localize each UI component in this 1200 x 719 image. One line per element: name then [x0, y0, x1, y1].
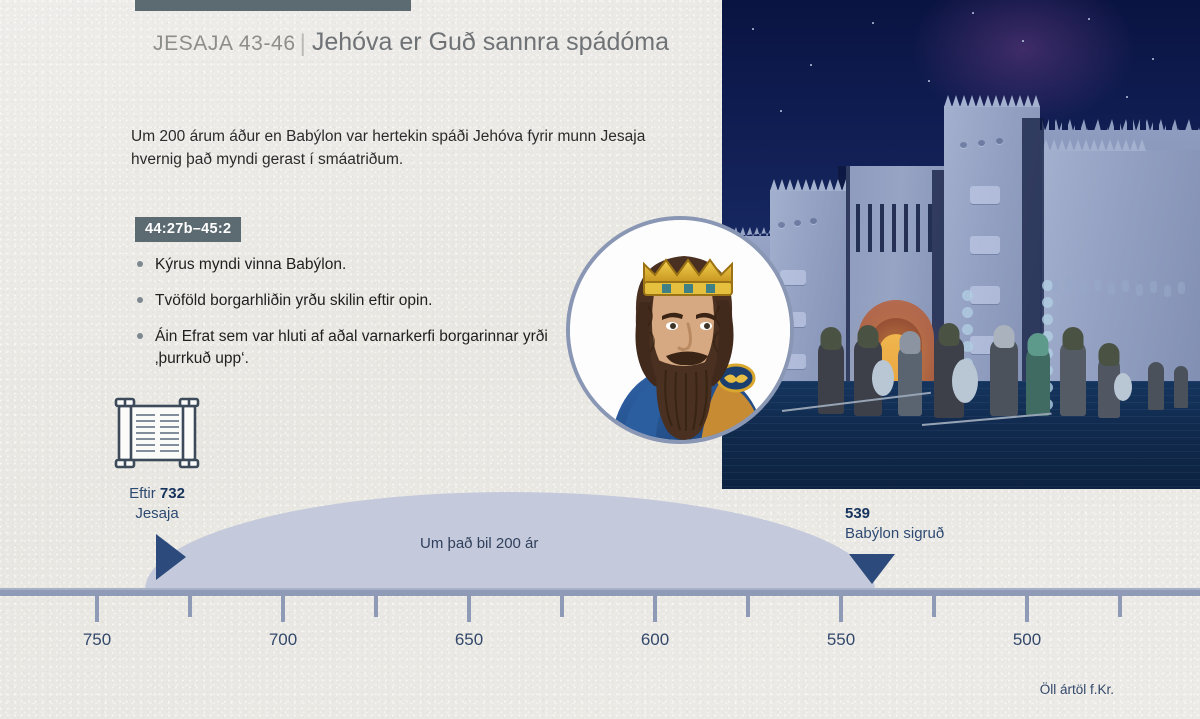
page-title: JESAJA 43-46|Jehóva er Guð sannra spádóm… [131, 28, 691, 58]
axis-tick [467, 596, 471, 622]
axis-tick [1118, 596, 1122, 617]
bullet-dot-icon [137, 261, 143, 267]
start-year: 732 [160, 485, 185, 502]
tower-dot-relief [794, 220, 801, 226]
list-item: Áin Efrat sem var hluti af aðal varnarke… [133, 326, 563, 370]
axis-tick [653, 596, 657, 622]
axis-tick [560, 596, 564, 617]
bullet-dot-icon [137, 297, 143, 303]
verse-badge: 44:27b–45:2 [135, 217, 241, 242]
end-year: 539 [845, 504, 1025, 524]
list-item-text: Kýrus myndi vinna Babýlon. [155, 256, 346, 273]
animal-relief [970, 236, 1000, 255]
list-item-text: Tvöföld borgarhliðin yrðu skilin eftir o… [155, 292, 432, 309]
axis-tick [746, 596, 750, 617]
animal-relief [970, 186, 1000, 205]
axis-tick-label: 550 [827, 630, 855, 650]
axis-tick [1025, 596, 1029, 622]
title-separator: | [300, 30, 306, 58]
babylon-gate-illustration [722, 0, 1200, 489]
soldier [898, 344, 922, 416]
crowd-figure [1122, 280, 1129, 292]
timeline-end-label: 539 Babýlon sigruð [845, 504, 1025, 544]
list-item: Kýrus myndi vinna Babýlon. [133, 254, 563, 276]
crowd-figure [1052, 280, 1059, 292]
soldier [1098, 356, 1120, 418]
axis-tick-label: 750 [83, 630, 111, 650]
prophecy-list: Kýrus myndi vinna Babýlon. Tvöföld borga… [133, 254, 563, 384]
axis-tick [95, 596, 99, 622]
crowd-figure [1080, 282, 1087, 294]
axis-tick-label: 650 [455, 630, 483, 650]
axis-tick-label: 700 [269, 630, 297, 650]
soldier [1026, 346, 1050, 416]
list-item: Tvöföld borgarhliðin yrðu skilin eftir o… [133, 290, 563, 312]
timeline-axis [0, 588, 1200, 596]
soldier [854, 338, 882, 416]
animal-relief [970, 286, 1000, 305]
start-person: Jesaja [135, 505, 178, 522]
crowd-figure [1164, 285, 1171, 297]
gate-slots [856, 204, 936, 252]
soldier [934, 336, 964, 418]
scroll-icon [110, 396, 204, 474]
start-prefix: Eftir [129, 485, 160, 502]
axis-tick [188, 596, 192, 617]
bullet-dot-icon [137, 333, 143, 339]
duration-arc-label: Um það bil 200 ár [420, 535, 538, 552]
crowd-figure [1178, 282, 1185, 294]
soldier [1148, 362, 1164, 410]
timeline-start-marker-icon [156, 534, 186, 580]
crowd-figure [1094, 279, 1101, 291]
king-portrait-art [570, 220, 794, 444]
timeline-end-marker-icon [849, 554, 895, 584]
soldier [990, 338, 1018, 416]
soldier [1060, 340, 1086, 416]
tower-dot-relief [978, 140, 985, 146]
top-accent-bar [135, 0, 411, 11]
intro-paragraph: Um 200 árum áður en Babýlon var hertekin… [131, 126, 693, 171]
axis-tick [932, 596, 936, 617]
timeline-start-label: Eftir 732 Jesaja [101, 484, 213, 524]
crowd-figure [1136, 284, 1143, 296]
scroll-icon-art [110, 396, 204, 474]
title-text: Jehóva er Guð sannra spádóma [312, 28, 669, 56]
tower-dot-relief [810, 218, 817, 224]
crowd-figure [1066, 278, 1073, 290]
crowd-figure [1108, 283, 1115, 295]
soldier [1174, 366, 1188, 408]
scripture-reference: JESAJA 43-46 [153, 32, 296, 55]
axis-tick-label: 500 [1013, 630, 1041, 650]
axis-tick [839, 596, 843, 622]
list-item-text: Áin Efrat sem var hluti af aðal varnarke… [155, 328, 548, 367]
axis-tick [281, 596, 285, 622]
tower-dot-relief [996, 138, 1003, 144]
tower-dot-relief [778, 222, 785, 228]
tower-dot-relief [960, 142, 967, 148]
timeline-footnote: Öll ártöl f.Kr. [1040, 682, 1114, 697]
crowd-figure [1150, 281, 1157, 293]
axis-tick [374, 596, 378, 617]
end-label-text: Babýlon sigruð [845, 525, 944, 542]
king-cyrus-portrait [566, 216, 794, 444]
axis-tick-label: 600 [641, 630, 669, 650]
